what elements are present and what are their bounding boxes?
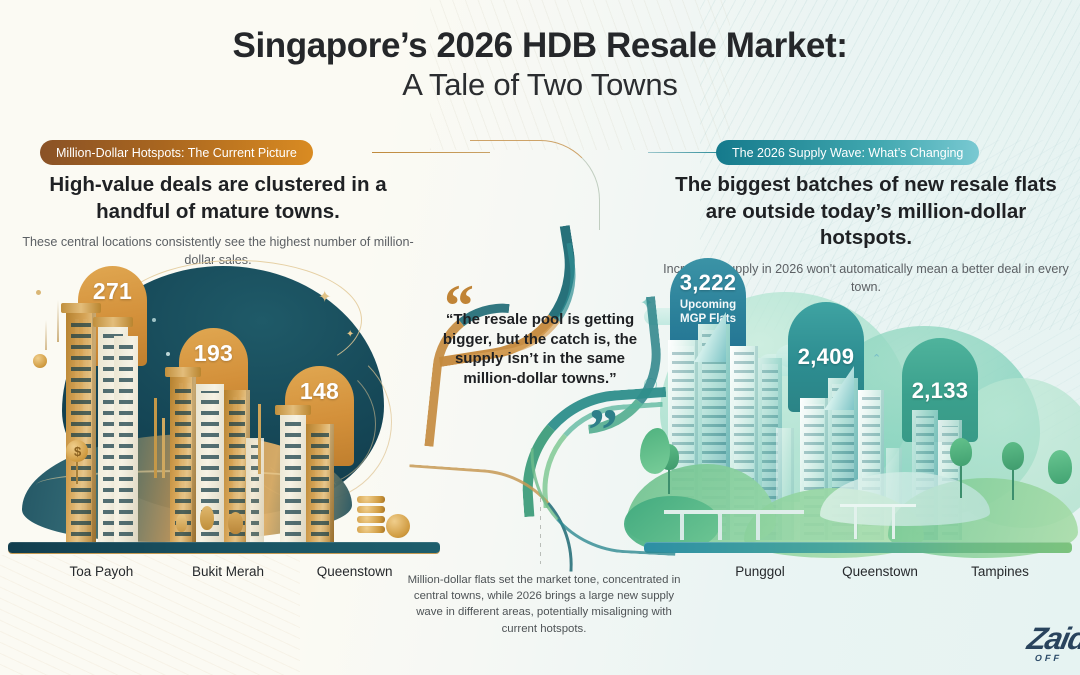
value-label: 148 bbox=[300, 378, 339, 405]
footer-caption: Million-dollar flats set the market tone… bbox=[404, 572, 684, 637]
tower-windows bbox=[71, 319, 91, 536]
viaduct-pillar bbox=[854, 507, 857, 539]
value-label: 3,222 bbox=[680, 270, 737, 296]
title-line-1: Singapore’s 2026 HDB Resale Market: bbox=[0, 26, 1080, 65]
value-label: 193 bbox=[194, 340, 233, 367]
coin-stack-item bbox=[357, 506, 385, 513]
viaduct-pillar bbox=[718, 514, 722, 540]
deco-spire bbox=[258, 404, 261, 474]
town-label: Bukit Merah bbox=[165, 564, 292, 579]
right-badge-connector-line bbox=[648, 152, 718, 153]
watermark-logo: Zaid bbox=[1024, 621, 1080, 657]
building-tower bbox=[246, 438, 264, 542]
watermark-sublabel: OFF bbox=[1034, 653, 1063, 663]
tree-icon bbox=[176, 514, 187, 532]
coin-stack-item bbox=[357, 516, 385, 523]
coin-tree-trunk bbox=[76, 462, 78, 484]
deco-streak bbox=[57, 300, 59, 342]
right-town-labels: Punggol Queenstown Tampines bbox=[700, 564, 1060, 579]
town-label: Queenstown bbox=[820, 564, 940, 579]
building-tower bbox=[66, 312, 96, 542]
tower-windows bbox=[175, 383, 191, 536]
left-town-labels: Toa Payoh Bukit Merah Queenstown bbox=[38, 564, 418, 579]
title-line-2: A Tale of Two Towns bbox=[0, 65, 1080, 105]
building-tower bbox=[306, 424, 334, 542]
tree-icon bbox=[1002, 442, 1024, 470]
left-chart-baseline bbox=[8, 542, 440, 553]
viaduct-deck bbox=[840, 504, 916, 507]
right-illustration: ✦ ✦ ⌃ ⌃ 3,222 Upcoming MGP Flats 2,409 2… bbox=[640, 258, 1080, 558]
deco-spire bbox=[154, 398, 157, 478]
value-label: 271 bbox=[93, 278, 132, 305]
center-divider bbox=[540, 498, 541, 564]
town-label: Queenstown bbox=[291, 564, 418, 579]
building-tower bbox=[114, 336, 138, 542]
tower-windows bbox=[285, 421, 301, 536]
coin-icon bbox=[33, 354, 47, 368]
building-tower bbox=[280, 414, 306, 542]
town-label: Punggol bbox=[700, 564, 820, 579]
tree-icon bbox=[1048, 450, 1072, 484]
right-chart-baseline bbox=[644, 542, 1072, 553]
deco-dot bbox=[36, 290, 41, 295]
town-label: Tampines bbox=[940, 564, 1060, 579]
viaduct-pillar bbox=[756, 514, 760, 540]
tree-icon bbox=[200, 506, 214, 530]
tower-windows bbox=[119, 343, 133, 536]
viaduct-deck bbox=[664, 510, 804, 514]
value-label: 2,133 bbox=[912, 350, 969, 404]
left-column-heading-group: High-value deals are clustered in a hand… bbox=[18, 172, 418, 270]
tower-windows bbox=[311, 431, 329, 536]
infographic-canvas: Singapore’s 2026 HDB Resale Market: A Ta… bbox=[0, 0, 1080, 675]
value-label: 2,409 bbox=[798, 314, 855, 370]
page-title: Singapore’s 2026 HDB Resale Market: A Ta… bbox=[0, 26, 1080, 105]
tower-cap bbox=[61, 303, 101, 313]
tower-cap bbox=[275, 405, 311, 415]
tree-icon bbox=[950, 438, 972, 466]
center-quote-text: “The resale pool is getting bigger, but … bbox=[442, 310, 638, 388]
coin-stack-item bbox=[357, 496, 385, 503]
quote-close-mark: ” bbox=[588, 400, 618, 460]
tree-icon bbox=[228, 512, 243, 534]
tower-cap bbox=[93, 317, 133, 327]
left-illustration: ✦ ✦ 271 193 148 bbox=[0, 258, 450, 558]
tower-cap bbox=[165, 367, 201, 377]
bird-icon: ⌃ bbox=[872, 352, 881, 365]
right-section-badge: The 2026 Supply Wave: What’s Changing bbox=[716, 140, 979, 165]
left-heading: High-value deals are clustered in a hand… bbox=[18, 172, 418, 225]
value-sublabel: Upcoming MGP Flats bbox=[670, 298, 746, 326]
right-heading: The biggest batches of new resale flats … bbox=[662, 172, 1070, 252]
deco-spire bbox=[162, 418, 165, 478]
left-section-badge: Million-Dollar Hotspots: The Current Pic… bbox=[40, 140, 313, 165]
dollar-sign-icon: $ bbox=[74, 444, 81, 459]
viaduct-pillar bbox=[892, 507, 895, 539]
deco-streak bbox=[45, 320, 47, 350]
viaduct-pillar bbox=[680, 514, 684, 540]
coin-stack-item bbox=[357, 526, 385, 533]
town-label: Toa Payoh bbox=[38, 564, 165, 579]
